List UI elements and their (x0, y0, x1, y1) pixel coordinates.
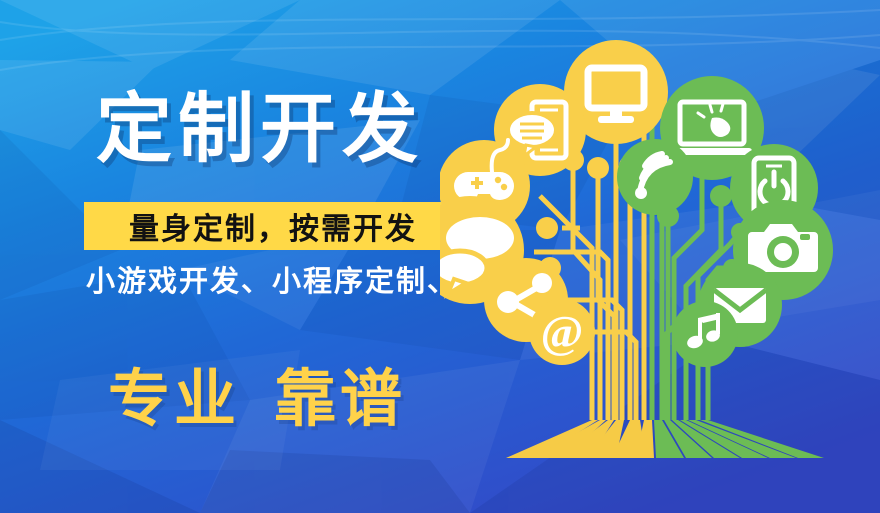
node-at-sign-icon: @ (529, 299, 595, 365)
tree-roots (506, 420, 824, 458)
tagline-word-right: 靠谱 (274, 365, 406, 434)
ribbon-label: 量身定制，按需开发 (129, 204, 417, 248)
tagline-word-left: 专业 (108, 365, 240, 434)
copy-column: 定制开发 量身定制，按需开发 小游戏开发、小程序定制、 专业靠谱 (0, 0, 500, 513)
tagline: 专业靠谱 (108, 348, 406, 438)
services-subtitle: 小游戏开发、小程序定制、 (86, 258, 458, 300)
page-title: 定制开发 (96, 92, 424, 168)
technology-tree-illustration: @ (440, 0, 880, 513)
svg-text:@: @ (541, 306, 584, 357)
node-wifi-icon (617, 139, 693, 215)
ribbon-banner: 量身定制，按需开发 (84, 202, 462, 250)
promo-banner: 定制开发 量身定制，按需开发 小游戏开发、小程序定制、 专业靠谱 (0, 0, 880, 513)
node-music-note-icon (672, 301, 738, 367)
